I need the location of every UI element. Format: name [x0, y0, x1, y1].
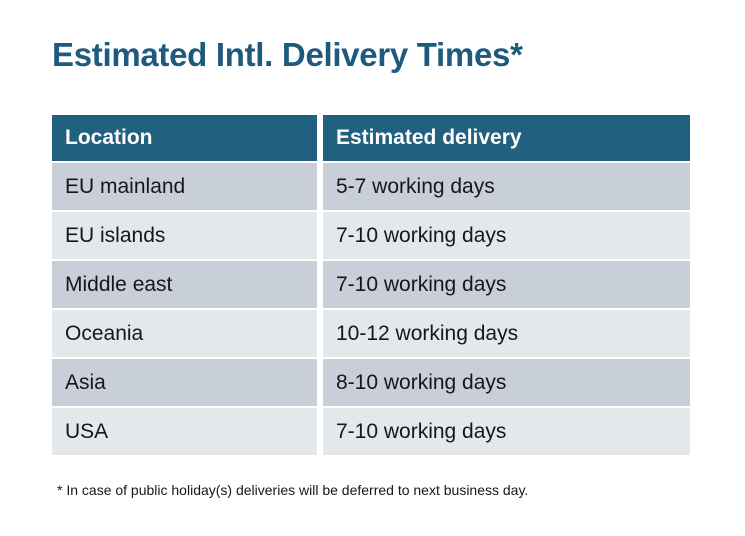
cell-location: Oceania [52, 310, 317, 357]
cell-delivery: 7-10 working days [323, 212, 690, 259]
cell-delivery: 8-10 working days [323, 359, 690, 406]
table-row: USA 7-10 working days [52, 408, 690, 455]
table-header-row: Location Estimated delivery [52, 115, 690, 161]
table-row: Oceania 10-12 working days [52, 310, 690, 357]
page-title: Estimated Intl. Delivery Times* [52, 36, 523, 74]
cell-delivery: 10-12 working days [323, 310, 690, 357]
cell-delivery: 5-7 working days [323, 163, 690, 210]
cell-delivery: 7-10 working days [323, 261, 690, 308]
cell-delivery: 7-10 working days [323, 408, 690, 455]
cell-location: EU islands [52, 212, 317, 259]
table-row: Asia 8-10 working days [52, 359, 690, 406]
table-row: EU mainland 5-7 working days [52, 163, 690, 210]
table-row: Middle east 7-10 working days [52, 261, 690, 308]
cell-location: USA [52, 408, 317, 455]
table-row: EU islands 7-10 working days [52, 212, 690, 259]
column-header-estimated-delivery: Estimated delivery [323, 115, 690, 161]
delivery-times-table: Location Estimated delivery EU mainland … [52, 115, 690, 457]
column-header-location: Location [52, 115, 317, 161]
footnote-text: * In case of public holiday(s) deliverie… [57, 482, 528, 498]
delivery-times-page: Estimated Intl. Delivery Times* Location… [0, 0, 745, 536]
cell-location: EU mainland [52, 163, 317, 210]
cell-location: Middle east [52, 261, 317, 308]
cell-location: Asia [52, 359, 317, 406]
